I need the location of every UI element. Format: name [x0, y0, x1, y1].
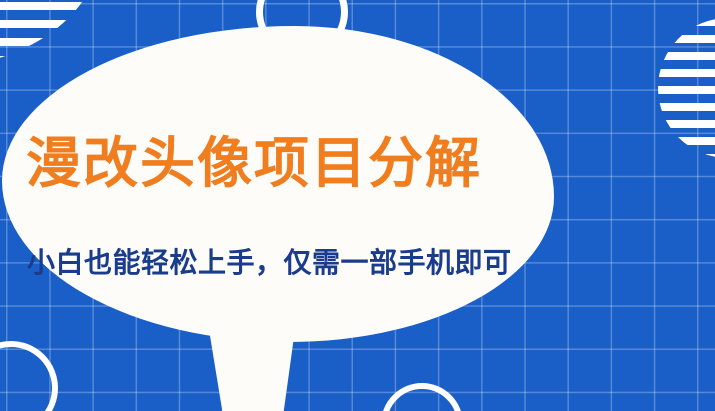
text-layer: 漫改头像项目分解 小白也能轻松上手，仅需一部手机即可 [0, 0, 715, 411]
poster-title: 漫改头像项目分解 [26, 132, 526, 194]
poster-subtitle: 小白也能轻松上手，仅需一部手机即可 [27, 246, 527, 280]
poster-canvas: 漫改头像项目分解 小白也能轻松上手，仅需一部手机即可 [0, 0, 715, 411]
